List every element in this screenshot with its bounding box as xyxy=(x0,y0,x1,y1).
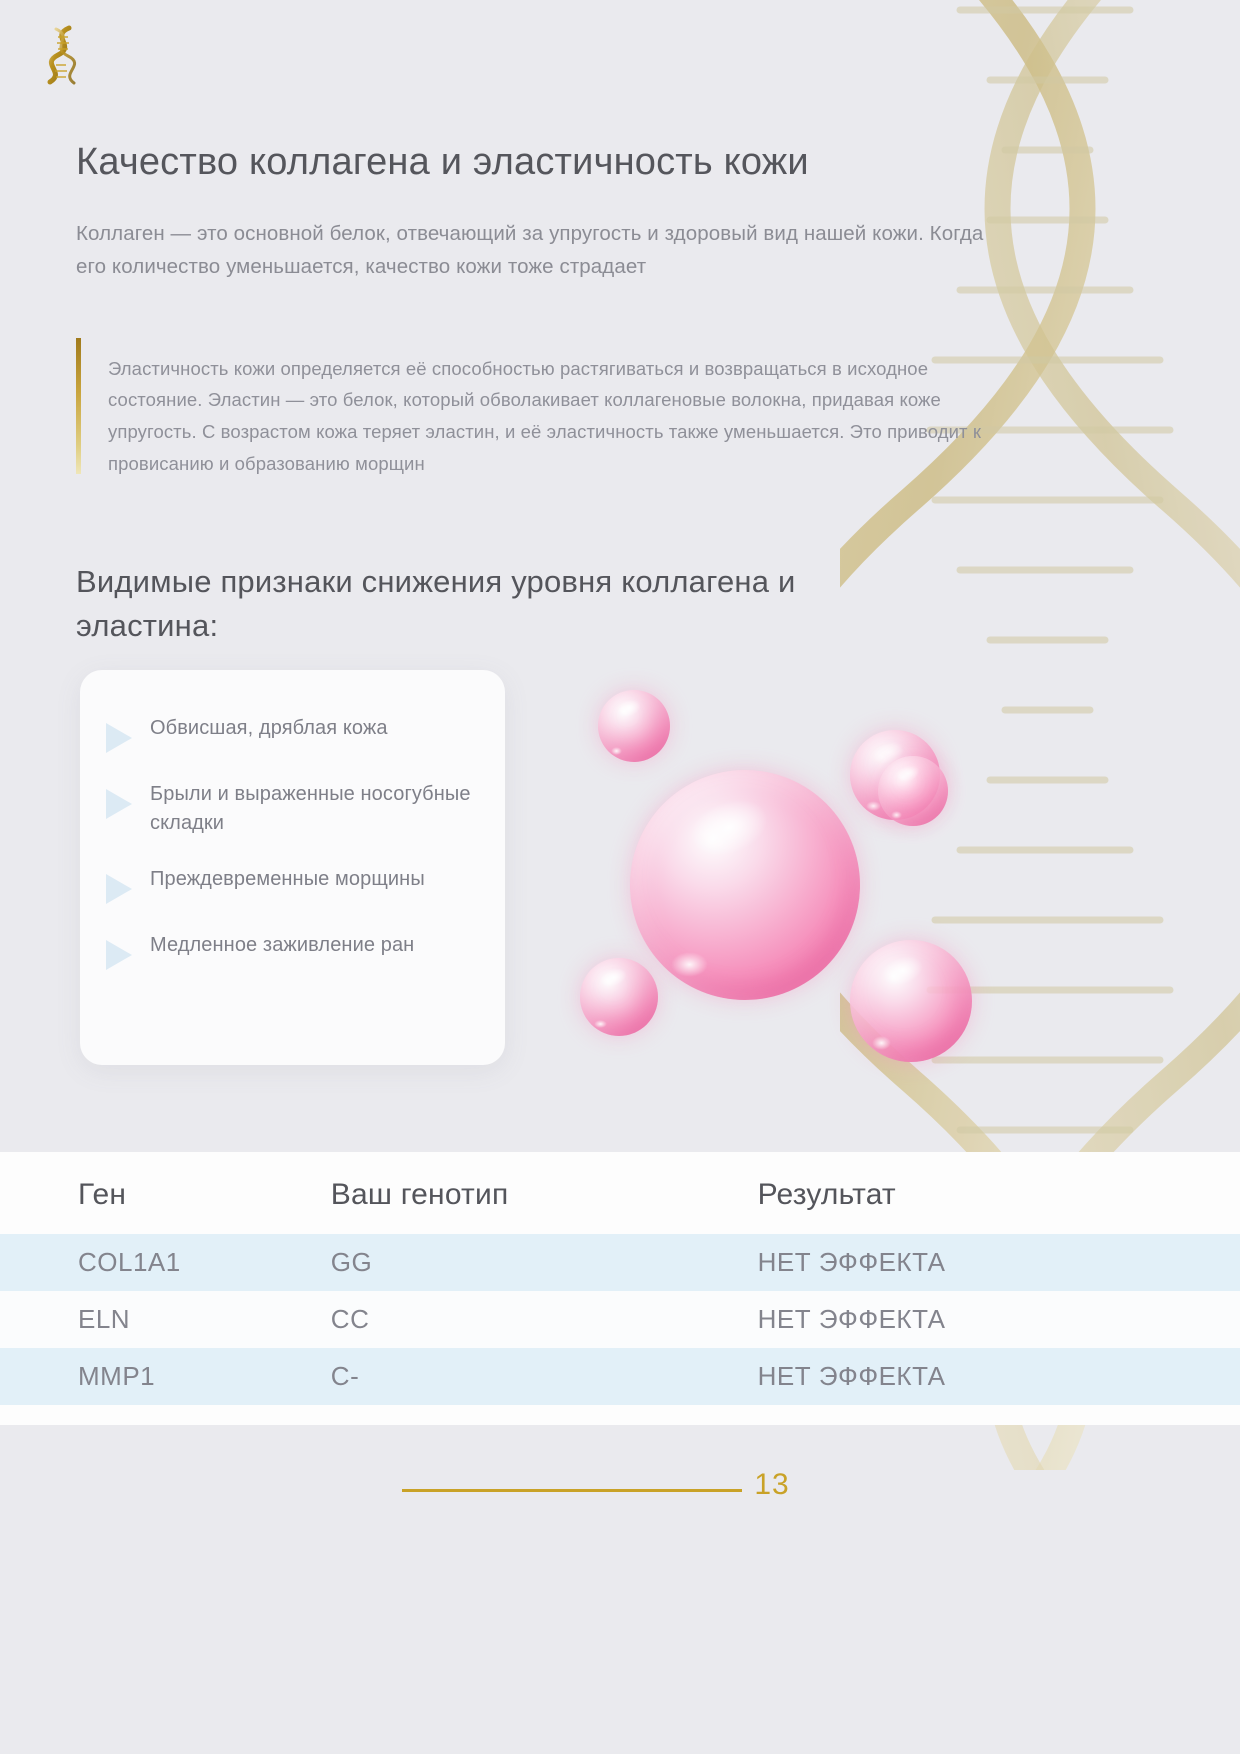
triangle-right-icon xyxy=(106,940,132,970)
bubble-bottom-right xyxy=(850,940,972,1062)
footer-rule xyxy=(402,1489,742,1492)
list-item: Обвисшая, дряблая кожа xyxy=(106,714,477,753)
column-header-result: Результат xyxy=(758,1152,1240,1234)
list-item-label: Брыли и выраженные носогубные складки xyxy=(150,780,477,838)
cell-result: НЕТ ЭФФЕКТА xyxy=(758,1348,1240,1405)
triangle-right-icon xyxy=(106,874,132,904)
symptoms-card: Обвисшая, дряблая кожа Брыли и выраженны… xyxy=(80,670,505,1065)
genotype-results-table: Ген Ваш генотип Результат COL1A1 GG НЕТ … xyxy=(0,1152,1240,1425)
bubble-bottom-left xyxy=(580,958,658,1036)
triangle-right-icon xyxy=(106,789,132,819)
cell-genotype: C- xyxy=(331,1348,758,1405)
list-item: Преждевременные морщины xyxy=(106,865,477,904)
section-title: Видимые признаки снижения уровня коллаге… xyxy=(76,560,896,648)
cell-result: НЕТ ЭФФЕКТА xyxy=(758,1291,1240,1348)
triangle-right-icon xyxy=(106,723,132,753)
cell-genotype: GG xyxy=(331,1234,758,1291)
page-title: Качество коллагена и эластичность кожи xyxy=(76,139,1076,187)
highlight-quote-block: Эластичность кожи определяется её способ… xyxy=(76,334,1008,498)
bubble-small-top-left xyxy=(598,690,670,762)
pink-collagen-bubbles-illustration xyxy=(560,670,1030,1090)
dna-helix-icon xyxy=(36,24,90,86)
cell-genotype: CC xyxy=(331,1291,758,1348)
cell-gene: ELN xyxy=(0,1291,331,1348)
quote-accent-bar xyxy=(76,338,81,474)
symptoms-list: Обвисшая, дряблая кожа Брыли и выраженны… xyxy=(80,670,505,970)
cell-result: НЕТ ЭФФЕКТА xyxy=(758,1234,1240,1291)
column-header-gene: Ген xyxy=(0,1152,331,1234)
cell-gene: MMP1 xyxy=(0,1348,331,1405)
cell-gene: COL1A1 xyxy=(0,1234,331,1291)
table-row: ELN CC НЕТ ЭФФЕКТА xyxy=(0,1291,1240,1348)
list-item: Брыли и выраженные носогубные складки xyxy=(106,780,477,838)
column-header-genotype: Ваш генотип xyxy=(331,1152,758,1234)
list-item-label: Обвисшая, дряблая кожа xyxy=(150,714,388,743)
list-item: Медленное заживление ран xyxy=(106,931,477,970)
table-header-row: Ген Ваш генотип Результат xyxy=(0,1152,1240,1234)
intro-paragraph: Коллаген — это основной белок, отвечающи… xyxy=(76,217,996,283)
list-item-label: Преждевременные морщины xyxy=(150,865,425,894)
bubble-main xyxy=(630,770,860,1000)
list-item-label: Медленное заживление ран xyxy=(150,931,414,960)
bubble-top-right xyxy=(850,730,940,820)
bubble-top-right-overlap xyxy=(878,756,948,826)
page-number: 13 xyxy=(742,1468,802,1502)
table-row: COL1A1 GG НЕТ ЭФФЕКТА xyxy=(0,1234,1240,1291)
quote-text: Эластичность кожи определяется её способ… xyxy=(108,353,1008,480)
table-row: MMP1 C- НЕТ ЭФФЕКТА xyxy=(0,1348,1240,1405)
